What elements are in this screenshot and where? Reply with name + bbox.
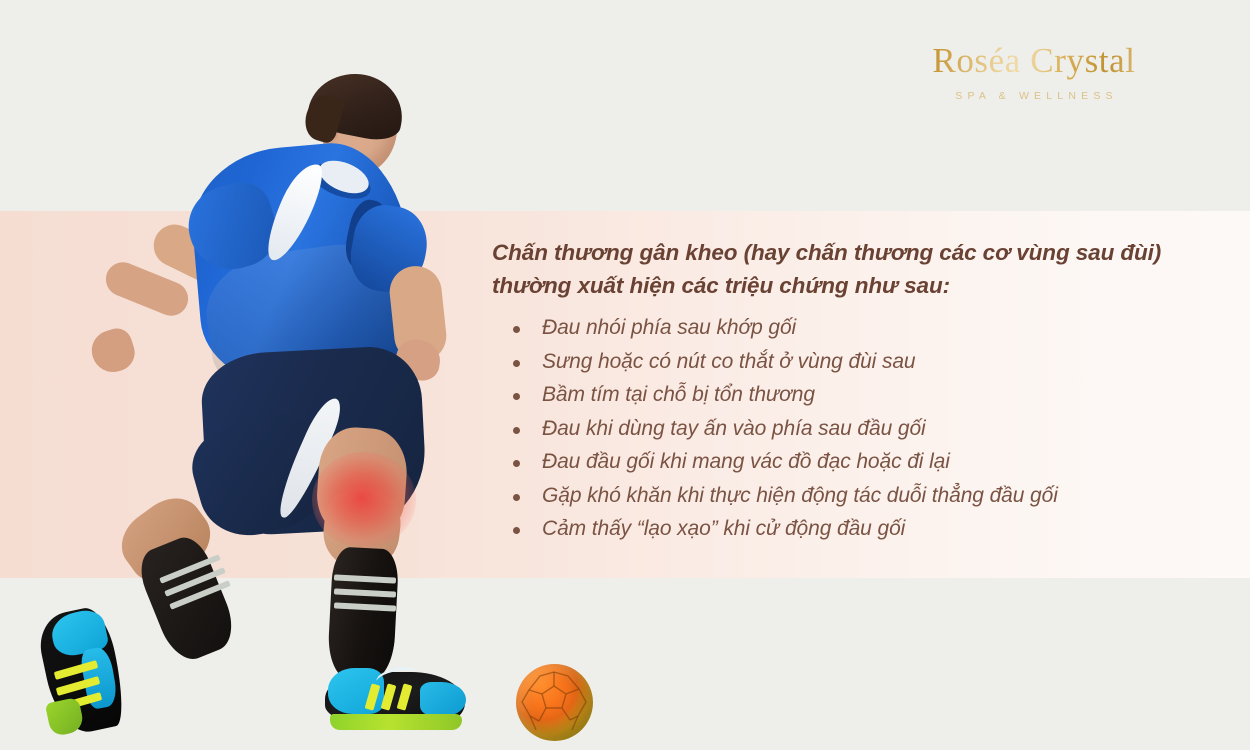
player-front-sock [327,546,400,681]
brand-tagline: SPA & WELLNESS [904,90,1164,102]
list-item: Bầm tím tại chỗ bị tổn thương [492,378,1192,412]
poster-canvas: Roséa Crystal SPA & WELLNESS Chấn thương… [0,0,1250,750]
list-item: Cảm thấy “lạo xạo” khi cử động đầu gối [492,512,1192,546]
soccer-player-illustration [0,0,520,750]
symptoms-heading: Chấn thương gân kheo (hay chấn thương cá… [492,236,1192,302]
boot-sole [330,714,462,730]
brand-name: Roséa Crystal [904,42,1164,81]
list-item: Đau đầu gối khi mang vác đồ đạc hoặc đi … [492,445,1192,479]
symptoms-list: Đau nhói phía sau khớp gối Sưng hoặc có … [492,311,1192,546]
list-item: Đau nhói phía sau khớp gối [492,311,1192,345]
brand-logo: Roséa Crystal SPA & WELLNESS [904,42,1164,102]
pain-highlight-knee [312,452,416,548]
player-left-hand [87,325,140,378]
list-item: Đau khi dùng tay ấn vào phía sau đầu gối [492,412,1192,446]
list-item: Gặp khó khăn khi thực hiện động tác duỗi… [492,479,1192,513]
symptoms-text-block: Chấn thương gân kheo (hay chấn thương cá… [492,236,1192,546]
boot-sole [45,697,85,737]
soccer-ball [516,664,593,741]
boot-toe-accent [420,682,466,716]
list-item: Sưng hoặc có nút co thắt ở vùng đùi sau [492,345,1192,379]
